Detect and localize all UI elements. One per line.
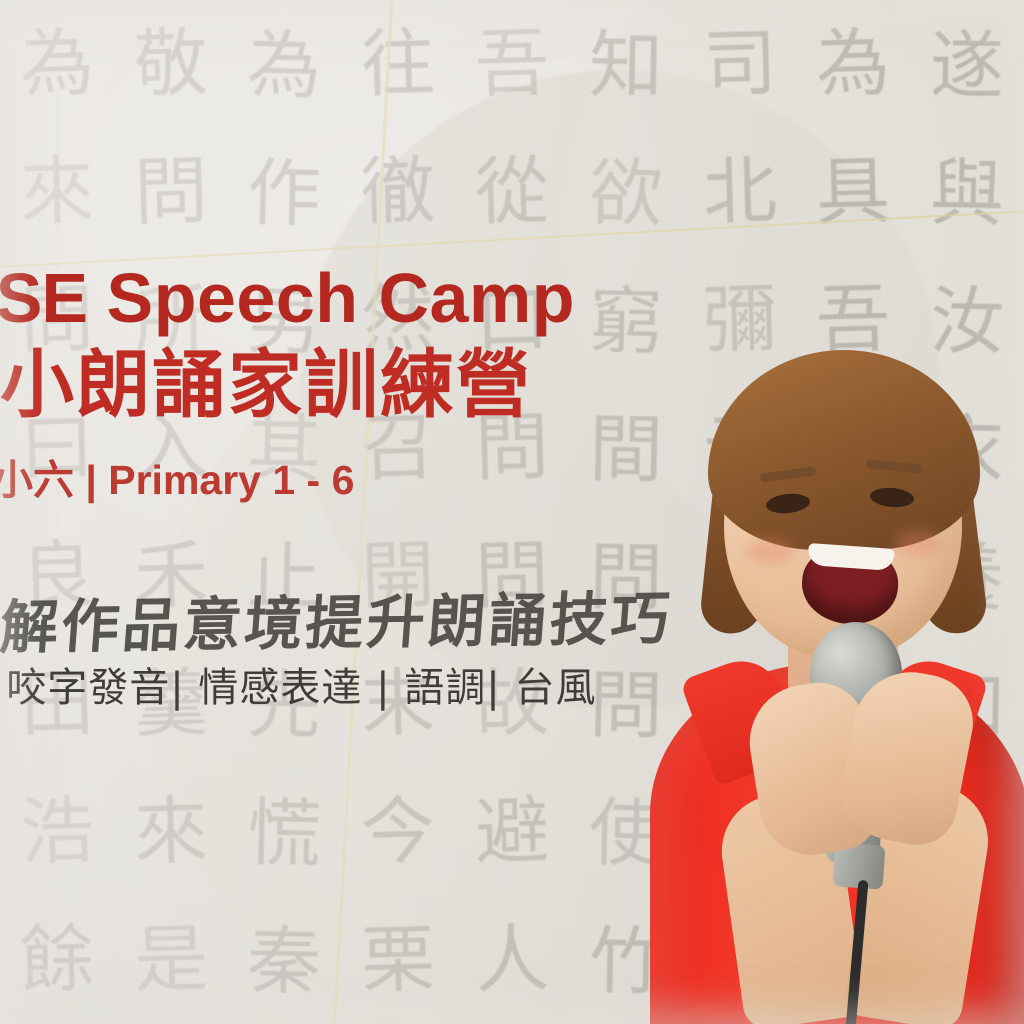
logo-wordmark: e bbox=[0, 38, 134, 104]
title-english-light: Speech Camp bbox=[107, 259, 575, 337]
cheek-left bbox=[746, 538, 794, 564]
skills-tag-line: | 咬字發音| 情感表達 | 語調| 台風 bbox=[0, 655, 738, 713]
photo-girl-with-microphone bbox=[638, 324, 1024, 1024]
promo-banner: 為敬為往吾知司為遂來問作徹從欲北具與問所男然口窮彌吾汝曰入其召問間云是衣良禾止開… bbox=[0, 0, 1024, 1024]
handwritten-tagline: 理解作品意境提升朗誦技巧 bbox=[0, 570, 744, 665]
logo-subtext: TUTE bbox=[0, 106, 134, 126]
title-english-bold: INESE bbox=[0, 259, 87, 337]
hair-top bbox=[708, 350, 980, 550]
cheek-right bbox=[894, 530, 942, 556]
brand-logo[interactable]: e TUTE bbox=[0, 38, 134, 134]
